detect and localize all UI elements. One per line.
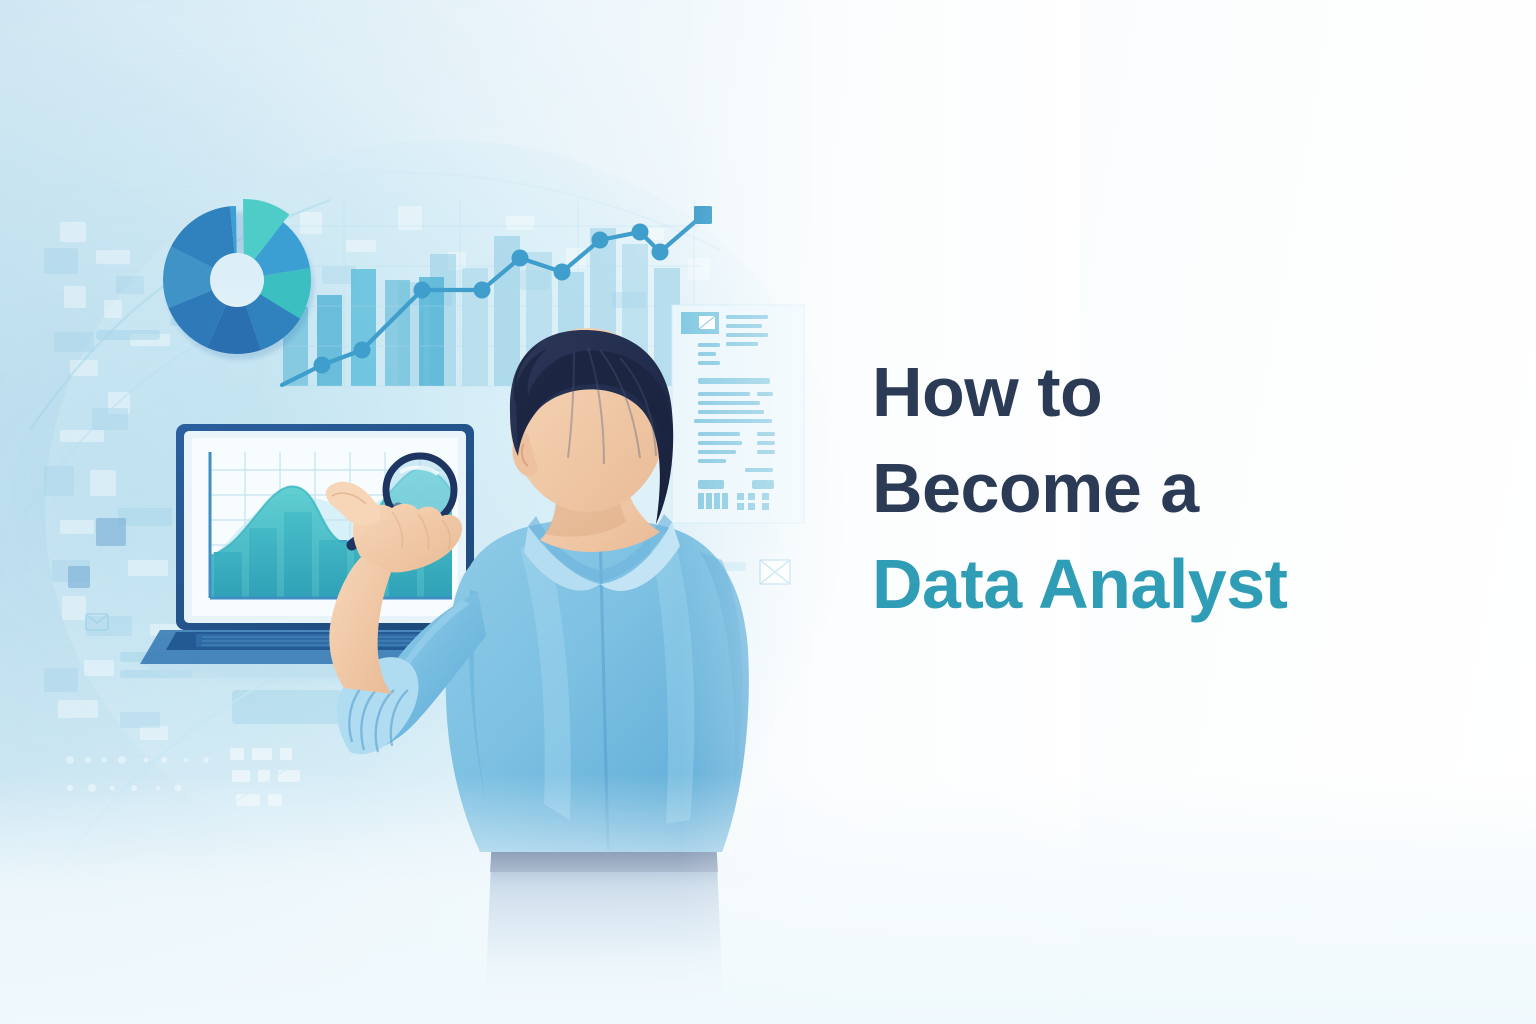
line-chart-point	[554, 264, 571, 281]
line-chart-point	[592, 232, 609, 249]
headline-line-2: Become a	[872, 440, 1432, 536]
headline: How to Become a Data Analyst	[872, 344, 1432, 632]
poster-canvas: How to Become a Data Analyst	[0, 0, 1536, 1024]
person-shirt	[446, 519, 749, 852]
line-chart-point	[632, 224, 649, 241]
donut-chart	[163, 198, 314, 360]
line-chart-point	[474, 282, 491, 299]
line-chart-point	[354, 342, 371, 359]
headline-line-1: How to	[872, 344, 1432, 440]
line-chart-endpoint	[694, 206, 712, 224]
headline-line-3: Data Analyst	[872, 536, 1432, 632]
line-chart-point	[512, 250, 529, 267]
line-chart-point	[414, 282, 431, 299]
line-chart-point	[314, 357, 331, 374]
line-chart-point	[652, 244, 669, 261]
